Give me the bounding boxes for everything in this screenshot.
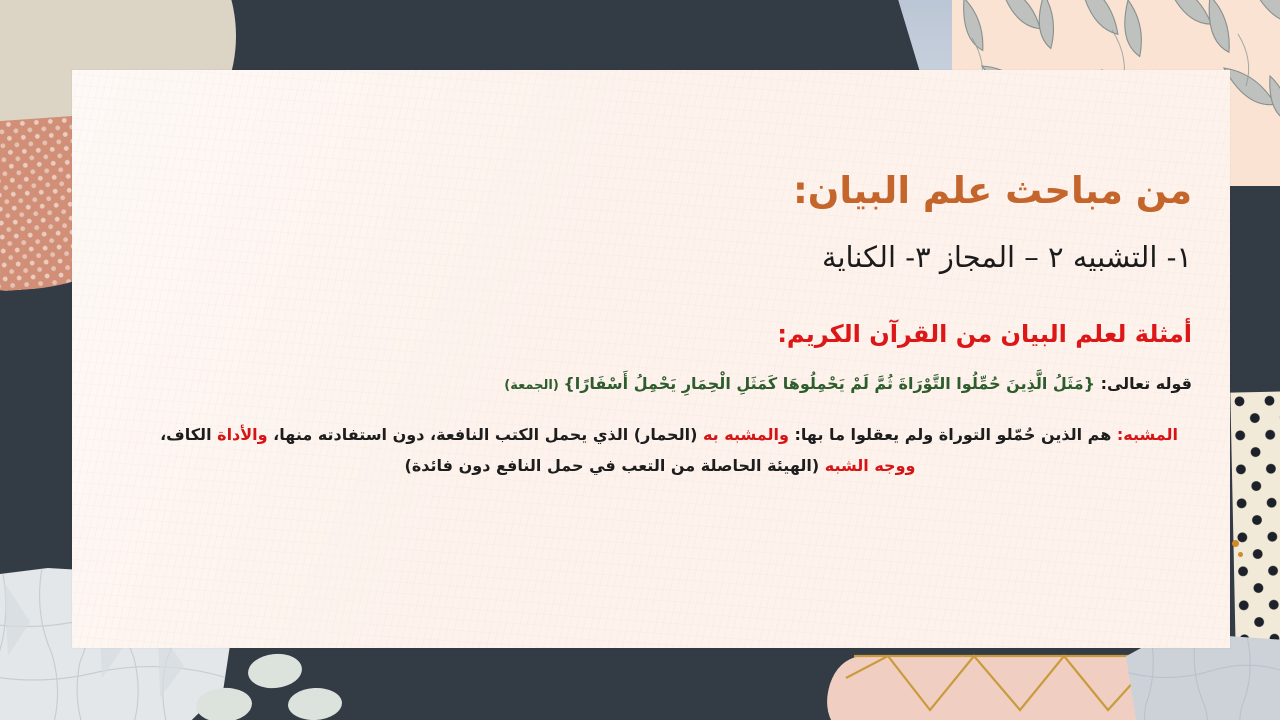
examples-heading: أمثلة لعلم البيان من القرآن الكريم: bbox=[110, 318, 1192, 352]
card-content: من مباحث علم البيان: ١- التشبيه ٢ – المج… bbox=[72, 70, 1230, 648]
mushabbah-bihi-label: والمشبه به bbox=[703, 425, 789, 444]
mushabbah-text: هم الذين حُمّلو التوراة ولم يعقلوا ما به… bbox=[789, 425, 1117, 444]
polka-dot-strip-decor bbox=[1230, 391, 1280, 650]
slide-title: من مباحث علم البيان: bbox=[110, 168, 1192, 214]
mushabbah-label: المشبه: bbox=[1117, 425, 1178, 444]
pale-ellipse-decor bbox=[246, 651, 303, 690]
wajh-shabah-label: ووجه الشبه bbox=[825, 456, 916, 475]
mushabbah-bihi-text: (الحمار) الذي يحمل الكتب النافعة، دون اس… bbox=[268, 425, 703, 444]
pale-ellipse-decor bbox=[287, 687, 343, 720]
adah-text: الكاف، bbox=[160, 425, 217, 444]
presentation-slide: من مباحث علم البيان: ١- التشبيه ٢ – المج… bbox=[0, 0, 1280, 720]
content-card: من مباحث علم البيان: ١- التشبيه ٢ – المج… bbox=[72, 70, 1230, 648]
quran-verse-text: {مَثَلُ الَّذِينَ حُمِّلُوا التَّوْرَاةَ… bbox=[563, 374, 1095, 393]
gold-dot-decor bbox=[1232, 540, 1239, 547]
quran-verse-line: قوله تعالى: {مَثَلُ الَّذِينَ حُمِّلُوا … bbox=[110, 370, 1192, 397]
gold-dot-decor bbox=[1238, 552, 1243, 557]
blush-triangle-shape-decor bbox=[824, 648, 1154, 720]
wajh-shabah-line: ووجه الشبه (الهيئة الحاصلة من التعب في ح… bbox=[124, 450, 1178, 481]
adah-label: والأداة bbox=[217, 425, 267, 444]
branches-enumeration: ١- التشبيه ٢ – المجاز ٣- الكناية bbox=[110, 236, 1192, 278]
explanation-paragraph: المشبه: هم الذين حُمّلو التوراة ولم يعقل… bbox=[110, 419, 1192, 481]
verse-intro-label: قوله تعالى: bbox=[1095, 374, 1192, 393]
verse-source-label: (الجمعة) bbox=[504, 378, 563, 393]
wajh-shabah-text: (الهيئة الحاصلة من التعب في حمل النافع د… bbox=[405, 456, 825, 475]
